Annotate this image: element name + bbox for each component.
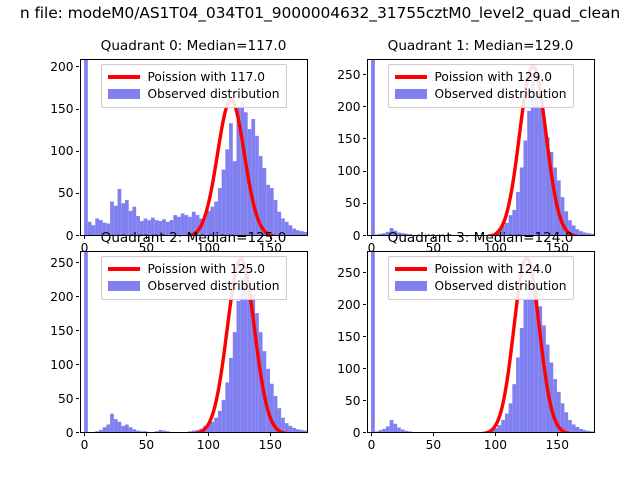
legend-entry: Poission with 124.0 <box>394 261 567 278</box>
y-tick-label: 250 <box>321 266 361 280</box>
legend-line-swatch <box>394 262 428 276</box>
x-tick-label: 150 <box>546 438 569 452</box>
y-tick-label: 150 <box>321 330 361 344</box>
y-tick-mark <box>363 304 367 305</box>
x-tick-mark <box>495 433 496 437</box>
y-tick-mark <box>363 432 367 433</box>
subplot-quadrant-3: Quadrant 3: Median=124.0Poission with 12… <box>0 0 640 480</box>
x-tick-mark <box>371 433 372 437</box>
y-tick-mark <box>363 368 367 369</box>
legend-patch-swatch <box>394 279 428 293</box>
x-tick-label: 100 <box>484 438 507 452</box>
y-tick-mark <box>363 336 367 337</box>
x-tick-label: 50 <box>426 438 442 452</box>
matplotlib-figure: n file: modeM0/AS1T04_034T01_9000004632_… <box>0 0 640 480</box>
subplot-title-quadrant-3: Quadrant 3: Median=124.0 <box>388 230 574 246</box>
y-tick-mark <box>363 400 367 401</box>
y-tick-label: 100 <box>321 362 361 376</box>
y-tick-label: 0 <box>321 426 361 440</box>
legend-entry: Observed distribution <box>394 278 567 295</box>
x-tick-mark <box>433 433 434 437</box>
y-tick-label: 200 <box>321 298 361 312</box>
legend-swatch-mark <box>395 267 427 270</box>
legend-label: Observed distribution <box>435 279 567 293</box>
y-tick-mark <box>363 272 367 273</box>
legend-label: Poission with 124.0 <box>435 262 553 276</box>
x-tick-label: 0 <box>368 438 376 452</box>
legend-quadrant-3[interactable]: Poission with 124.0Observed distribution <box>388 256 574 300</box>
legend-swatch-mark <box>395 281 427 291</box>
y-tick-label: 50 <box>321 394 361 408</box>
x-tick-mark <box>557 433 558 437</box>
